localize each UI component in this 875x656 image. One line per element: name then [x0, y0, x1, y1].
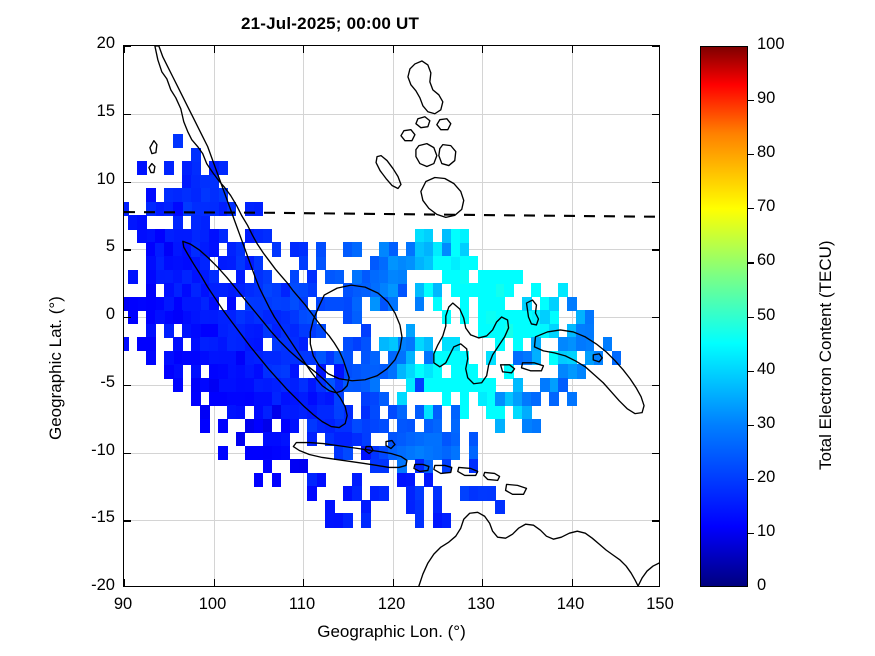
y-axis-tick	[652, 182, 659, 183]
y-axis-tick-label: 5	[55, 237, 115, 256]
colorbar-tick-label: 30	[757, 414, 775, 433]
y-axis-tick	[124, 453, 131, 454]
colorbar-tick	[748, 371, 754, 372]
colorbar-tick-label: 10	[757, 522, 775, 541]
map-plot-area	[123, 45, 660, 587]
y-axis-tick	[652, 114, 659, 115]
x-axis-tick	[214, 579, 215, 586]
colorbar-tick-label: 90	[757, 89, 775, 108]
colorbar-tick	[748, 154, 754, 155]
colorbar-tick	[748, 317, 754, 318]
x-axis-tick-label: 150	[630, 595, 690, 614]
y-axis-tick-label: 10	[55, 170, 115, 189]
x-axis-tick	[393, 46, 394, 53]
colorbar-tick	[748, 533, 754, 534]
y-axis-tick	[652, 385, 659, 386]
colorbar-tick-label: 50	[757, 306, 775, 325]
y-axis-tick	[124, 114, 131, 115]
y-axis-tick-label: -20	[55, 576, 115, 595]
y-axis-tick	[124, 520, 131, 521]
x-axis-tick	[303, 46, 304, 53]
colorbar-tick	[748, 262, 754, 263]
y-axis-tick	[652, 520, 659, 521]
x-axis-tick-label: 120	[362, 595, 422, 614]
x-axis-tick-label: 140	[541, 595, 601, 614]
x-axis-tick	[572, 46, 573, 53]
y-axis-tick	[124, 46, 131, 47]
colorbar-tick-label: 100	[757, 35, 785, 54]
colorbar-tick	[748, 425, 754, 426]
y-axis-tick	[652, 317, 659, 318]
colorbar-tick-label: 20	[757, 468, 775, 487]
y-axis-title: Geographic Lat. (°)	[46, 296, 66, 440]
colorbar-title: Total Electron Content (TECU)	[816, 240, 836, 470]
x-axis-tick-label: 110	[272, 595, 332, 614]
colorbar-tick	[748, 208, 754, 209]
magnetic-equator-line	[124, 46, 659, 586]
figure-title: 21-Jul-2025; 00:00 UT	[0, 14, 660, 34]
y-axis-tick	[652, 46, 659, 47]
y-axis-tick-label: 15	[55, 102, 115, 121]
colorbar-tick	[748, 479, 754, 480]
colorbar-tick	[748, 100, 754, 101]
tec-map-figure: 21-Jul-2025; 00:00 UT	[0, 0, 875, 656]
y-axis-tick-label: 20	[55, 34, 115, 53]
x-axis-tick	[214, 46, 215, 53]
colorbar-tick-label: 40	[757, 360, 775, 379]
x-axis-tick-label: 130	[451, 595, 511, 614]
x-axis-tick	[124, 579, 125, 586]
x-axis-title: Geographic Lon. (°)	[123, 622, 660, 642]
y-axis-tick	[124, 385, 131, 386]
colorbar	[700, 46, 748, 587]
colorbar-tick-label: 60	[757, 251, 775, 270]
y-axis-tick-label: -10	[55, 441, 115, 460]
x-axis-tick	[482, 579, 483, 586]
y-axis-tick	[124, 182, 131, 183]
y-axis-tick	[124, 317, 131, 318]
colorbar-tick-label: 70	[757, 197, 775, 216]
x-axis-tick-label: 100	[183, 595, 243, 614]
y-axis-tick	[652, 249, 659, 250]
y-axis-tick	[652, 453, 659, 454]
x-axis-tick	[572, 579, 573, 586]
x-axis-tick	[482, 46, 483, 53]
x-axis-tick	[393, 579, 394, 586]
x-axis-tick	[303, 579, 304, 586]
y-axis-tick	[124, 249, 131, 250]
colorbar-tick-label: 0	[757, 576, 766, 595]
x-axis-tick-label: 90	[93, 595, 153, 614]
y-axis-tick-label: -15	[55, 508, 115, 527]
colorbar-tick-label: 80	[757, 143, 775, 162]
